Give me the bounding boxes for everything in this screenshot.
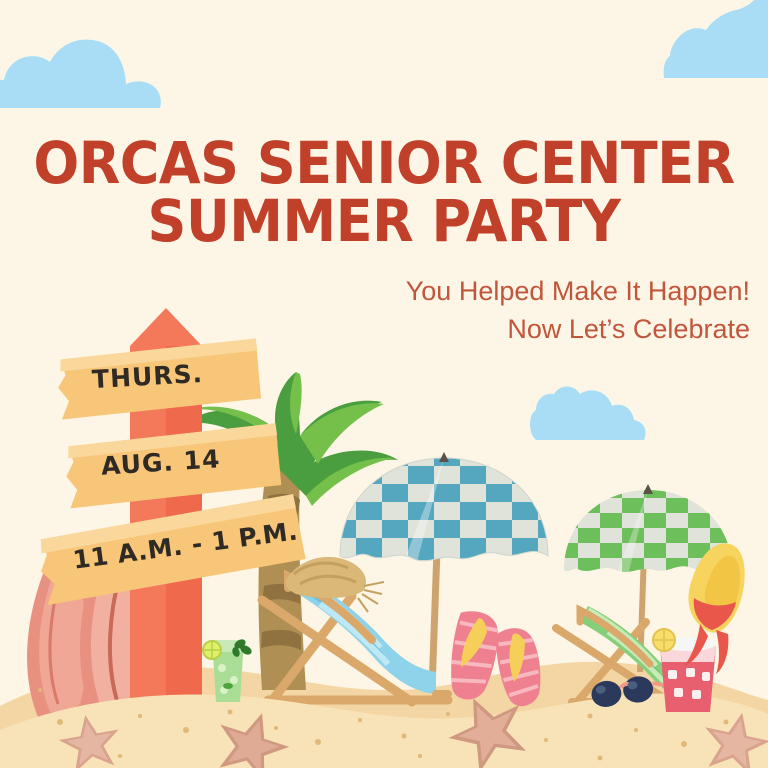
starfish-icon-1 xyxy=(55,710,124,768)
drink-cup-icon xyxy=(653,629,716,712)
starfish-icon-4 xyxy=(697,706,768,768)
flip-flops-icon xyxy=(447,609,549,709)
mojito-glass-icon xyxy=(203,638,253,702)
props-layer xyxy=(0,0,768,768)
starfish-icon-2 xyxy=(207,702,296,768)
poster-canvas: THURS. AUG. 14 11 A.M. - 1 P.M. xyxy=(0,0,768,768)
